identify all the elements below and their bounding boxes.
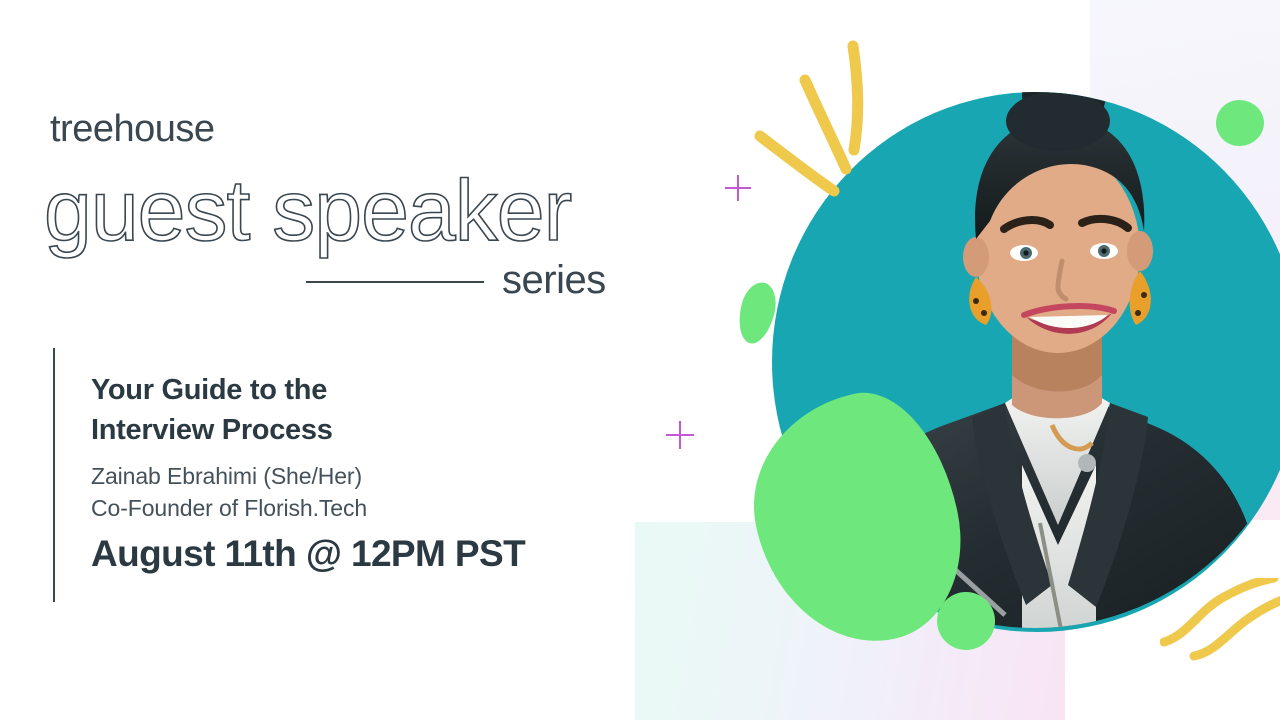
brand-logo-text: treehouse (50, 108, 215, 151)
plus-mark-lower (666, 421, 694, 449)
slide-canvas: treehouse guest speaker series Your Guid… (0, 0, 1280, 720)
left-accent-rule (53, 348, 55, 602)
yellow-squiggle-lines (1160, 578, 1280, 678)
headline-outline: guest speaker (44, 158, 664, 268)
series-divider-rule (306, 281, 484, 283)
speaker-role: Co-Founder of Florish.Tech (91, 492, 561, 524)
green-dot (937, 592, 995, 650)
series-row: series (306, 258, 626, 306)
speaker-block: Zainab Ebrahimi (She/Her) Co-Founder of … (91, 460, 561, 524)
series-label: series (502, 258, 606, 303)
svg-text:guest speaker: guest speaker (44, 163, 572, 259)
plus-mark-upper (725, 175, 751, 201)
talk-title-line-2: Interview Process (91, 410, 561, 450)
talk-title: Your Guide to the Interview Process (91, 370, 561, 450)
event-datetime: August 11th @ 12PM PST (91, 533, 651, 575)
speaker-name: Zainab Ebrahimi (She/Her) (91, 460, 561, 492)
talk-title-line-1: Your Guide to the (91, 370, 561, 410)
